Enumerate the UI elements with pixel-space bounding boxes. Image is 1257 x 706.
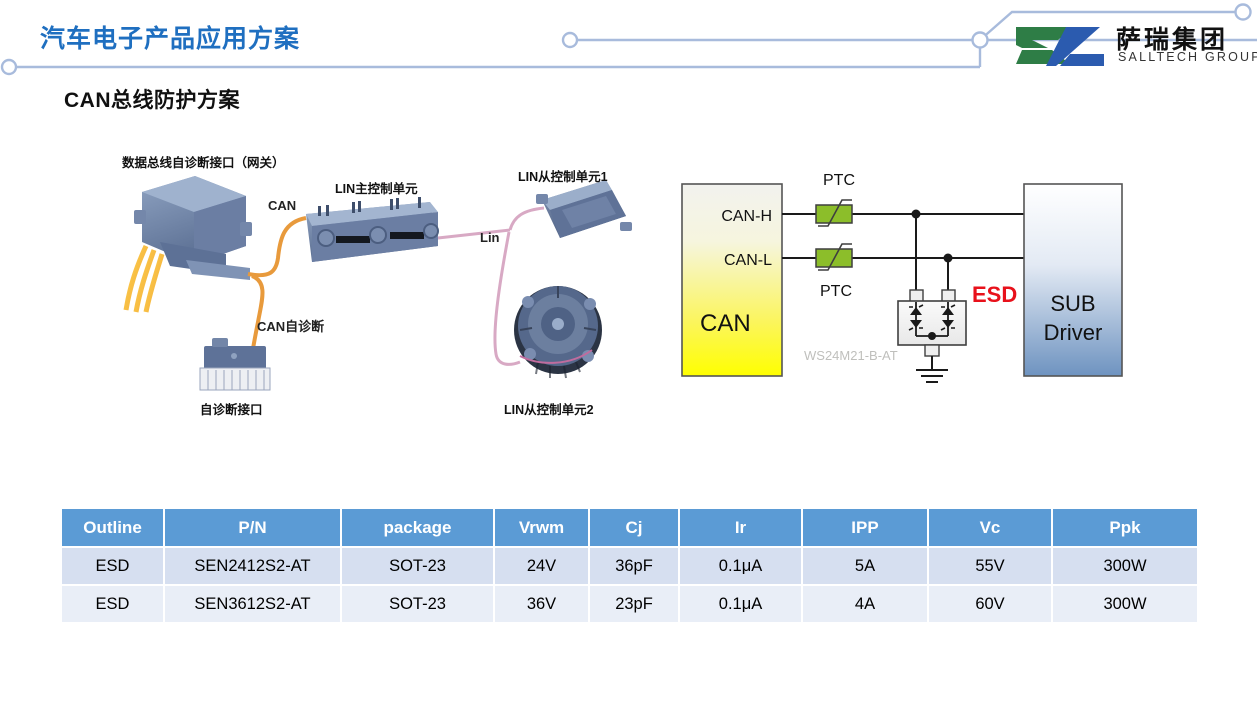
cell-vc: 60V [928, 585, 1052, 623]
ptc-bottom-label: PTC [820, 283, 852, 300]
cell-vc: 55V [928, 547, 1052, 585]
circuit-schematic: CAN-H CAN-L CAN WS24M21-B-AT PTC PTC [672, 168, 1132, 398]
cell-vrwm: 24V [494, 547, 589, 585]
table-header-row: Outline P/N package Vrwm Cj Ir IPP Vc Pp… [62, 509, 1197, 547]
table-row[interactable]: ESD SEN3612S2-AT SOT-23 36V 23pF 0.1μA 4… [62, 585, 1197, 623]
cell-pn: SEN3612S2-AT [164, 585, 341, 623]
ground-symbol [916, 370, 948, 382]
specification-table: Outline P/N package Vrwm Cj Ir IPP Vc Pp… [62, 509, 1197, 624]
column-header-vc[interactable]: Vc [928, 509, 1052, 547]
column-header-cj[interactable]: Cj [589, 509, 679, 547]
label-lin-slave-2: LIN从控制单元2 [504, 399, 594, 418]
label-lin-slave-1: LIN从控制单元1 [518, 166, 608, 185]
can-wire [248, 218, 306, 275]
specification-table-container: Outline P/N package Vrwm Cj Ir IPP Vc Pp… [62, 509, 1197, 624]
column-header-ipp[interactable]: IPP [802, 509, 928, 547]
column-header-outline[interactable]: Outline [62, 509, 164, 547]
esd-label: ESD [972, 282, 1017, 307]
label-can-self-diagnosis: CAN自诊断 [257, 316, 324, 335]
page-title: 汽车电子产品应用方案 [40, 19, 300, 55]
automotive-bus-topology-diagram: 数据总线自诊断接口（网关） CAN CAN自诊断 自诊断接口 LIN主控制单元 … [100, 150, 660, 425]
lin-master-unit-image [306, 197, 438, 262]
diagnostic-connector-image [200, 338, 270, 390]
cell-outline: ESD [62, 585, 164, 623]
table-row[interactable]: ESD SEN2412S2-AT SOT-23 24V 36pF 0.1μA 5… [62, 547, 1197, 585]
ptc-top-label: PTC [823, 172, 855, 189]
logo-name-en: SALLTECH GROUP [1118, 50, 1257, 64]
label-diagnostic-port: 自诊断接口 [200, 399, 263, 418]
lin-slave-unit-2-image [514, 286, 602, 378]
ptc-top-component: PTC [816, 172, 855, 226]
sub-driver-line1: SUB [1050, 291, 1095, 316]
company-logo: 萨瑞集团 SALLTECH GROUP [1012, 22, 1244, 72]
junction-dot-can-l [944, 254, 953, 263]
cell-outline: ESD [62, 547, 164, 585]
cell-package: SOT-23 [341, 585, 494, 623]
gateway-ecu-image [126, 176, 252, 312]
column-header-pn[interactable]: P/N [164, 509, 341, 547]
can-block-title: CAN [700, 310, 751, 337]
cell-ppk: 300W [1052, 585, 1197, 623]
lin-slave-unit-1-image [536, 180, 632, 238]
label-gateway: 数据总线自诊断接口（网关） [122, 152, 285, 171]
column-header-package[interactable]: package [341, 509, 494, 547]
label-lin: Lin [480, 230, 500, 245]
label-lin-master: LIN主控制单元 [335, 178, 418, 197]
cell-cj: 23pF [589, 585, 679, 623]
cell-ir: 0.1μA [679, 547, 802, 585]
part-number-watermark: WS24M21-B-AT [804, 348, 898, 363]
can-l-pin-label: CAN-L [724, 252, 772, 269]
slide-header: 汽车电子产品应用方案 萨瑞集团 SALLTECH GROUP [0, 0, 1257, 90]
cell-ipp: 4A [802, 585, 928, 623]
sub-driver-line2: Driver [1044, 320, 1103, 345]
cell-vrwm: 36V [494, 585, 589, 623]
label-can: CAN [268, 198, 296, 213]
lin-wire-2 [495, 232, 520, 364]
salltech-logo-mark [1012, 24, 1108, 70]
can-block: CAN-H CAN-L CAN [682, 184, 782, 376]
esd-device: ESD [898, 282, 1017, 382]
cell-pn: SEN2412S2-AT [164, 547, 341, 585]
can-protection-circuit-diagram: CAN-H CAN-L CAN WS24M21-B-AT PTC PTC [672, 168, 1132, 398]
column-header-vrwm[interactable]: Vrwm [494, 509, 589, 547]
ptc-bottom-component: PTC [816, 244, 852, 300]
cell-ppk: 300W [1052, 547, 1197, 585]
column-header-ir[interactable]: Ir [679, 509, 802, 547]
cell-cj: 36pF [589, 547, 679, 585]
sub-driver-block: SUB Driver [1024, 184, 1122, 376]
junction-dot-can-h [912, 210, 921, 219]
column-header-ppk[interactable]: Ppk [1052, 509, 1197, 547]
cell-package: SOT-23 [341, 547, 494, 585]
junction-dot-esd-common [928, 332, 936, 340]
cell-ipp: 5A [802, 547, 928, 585]
cell-ir: 0.1μA [679, 585, 802, 623]
section-heading: CAN总线防护方案 [64, 84, 240, 114]
can-h-pin-label: CAN-H [721, 208, 772, 225]
